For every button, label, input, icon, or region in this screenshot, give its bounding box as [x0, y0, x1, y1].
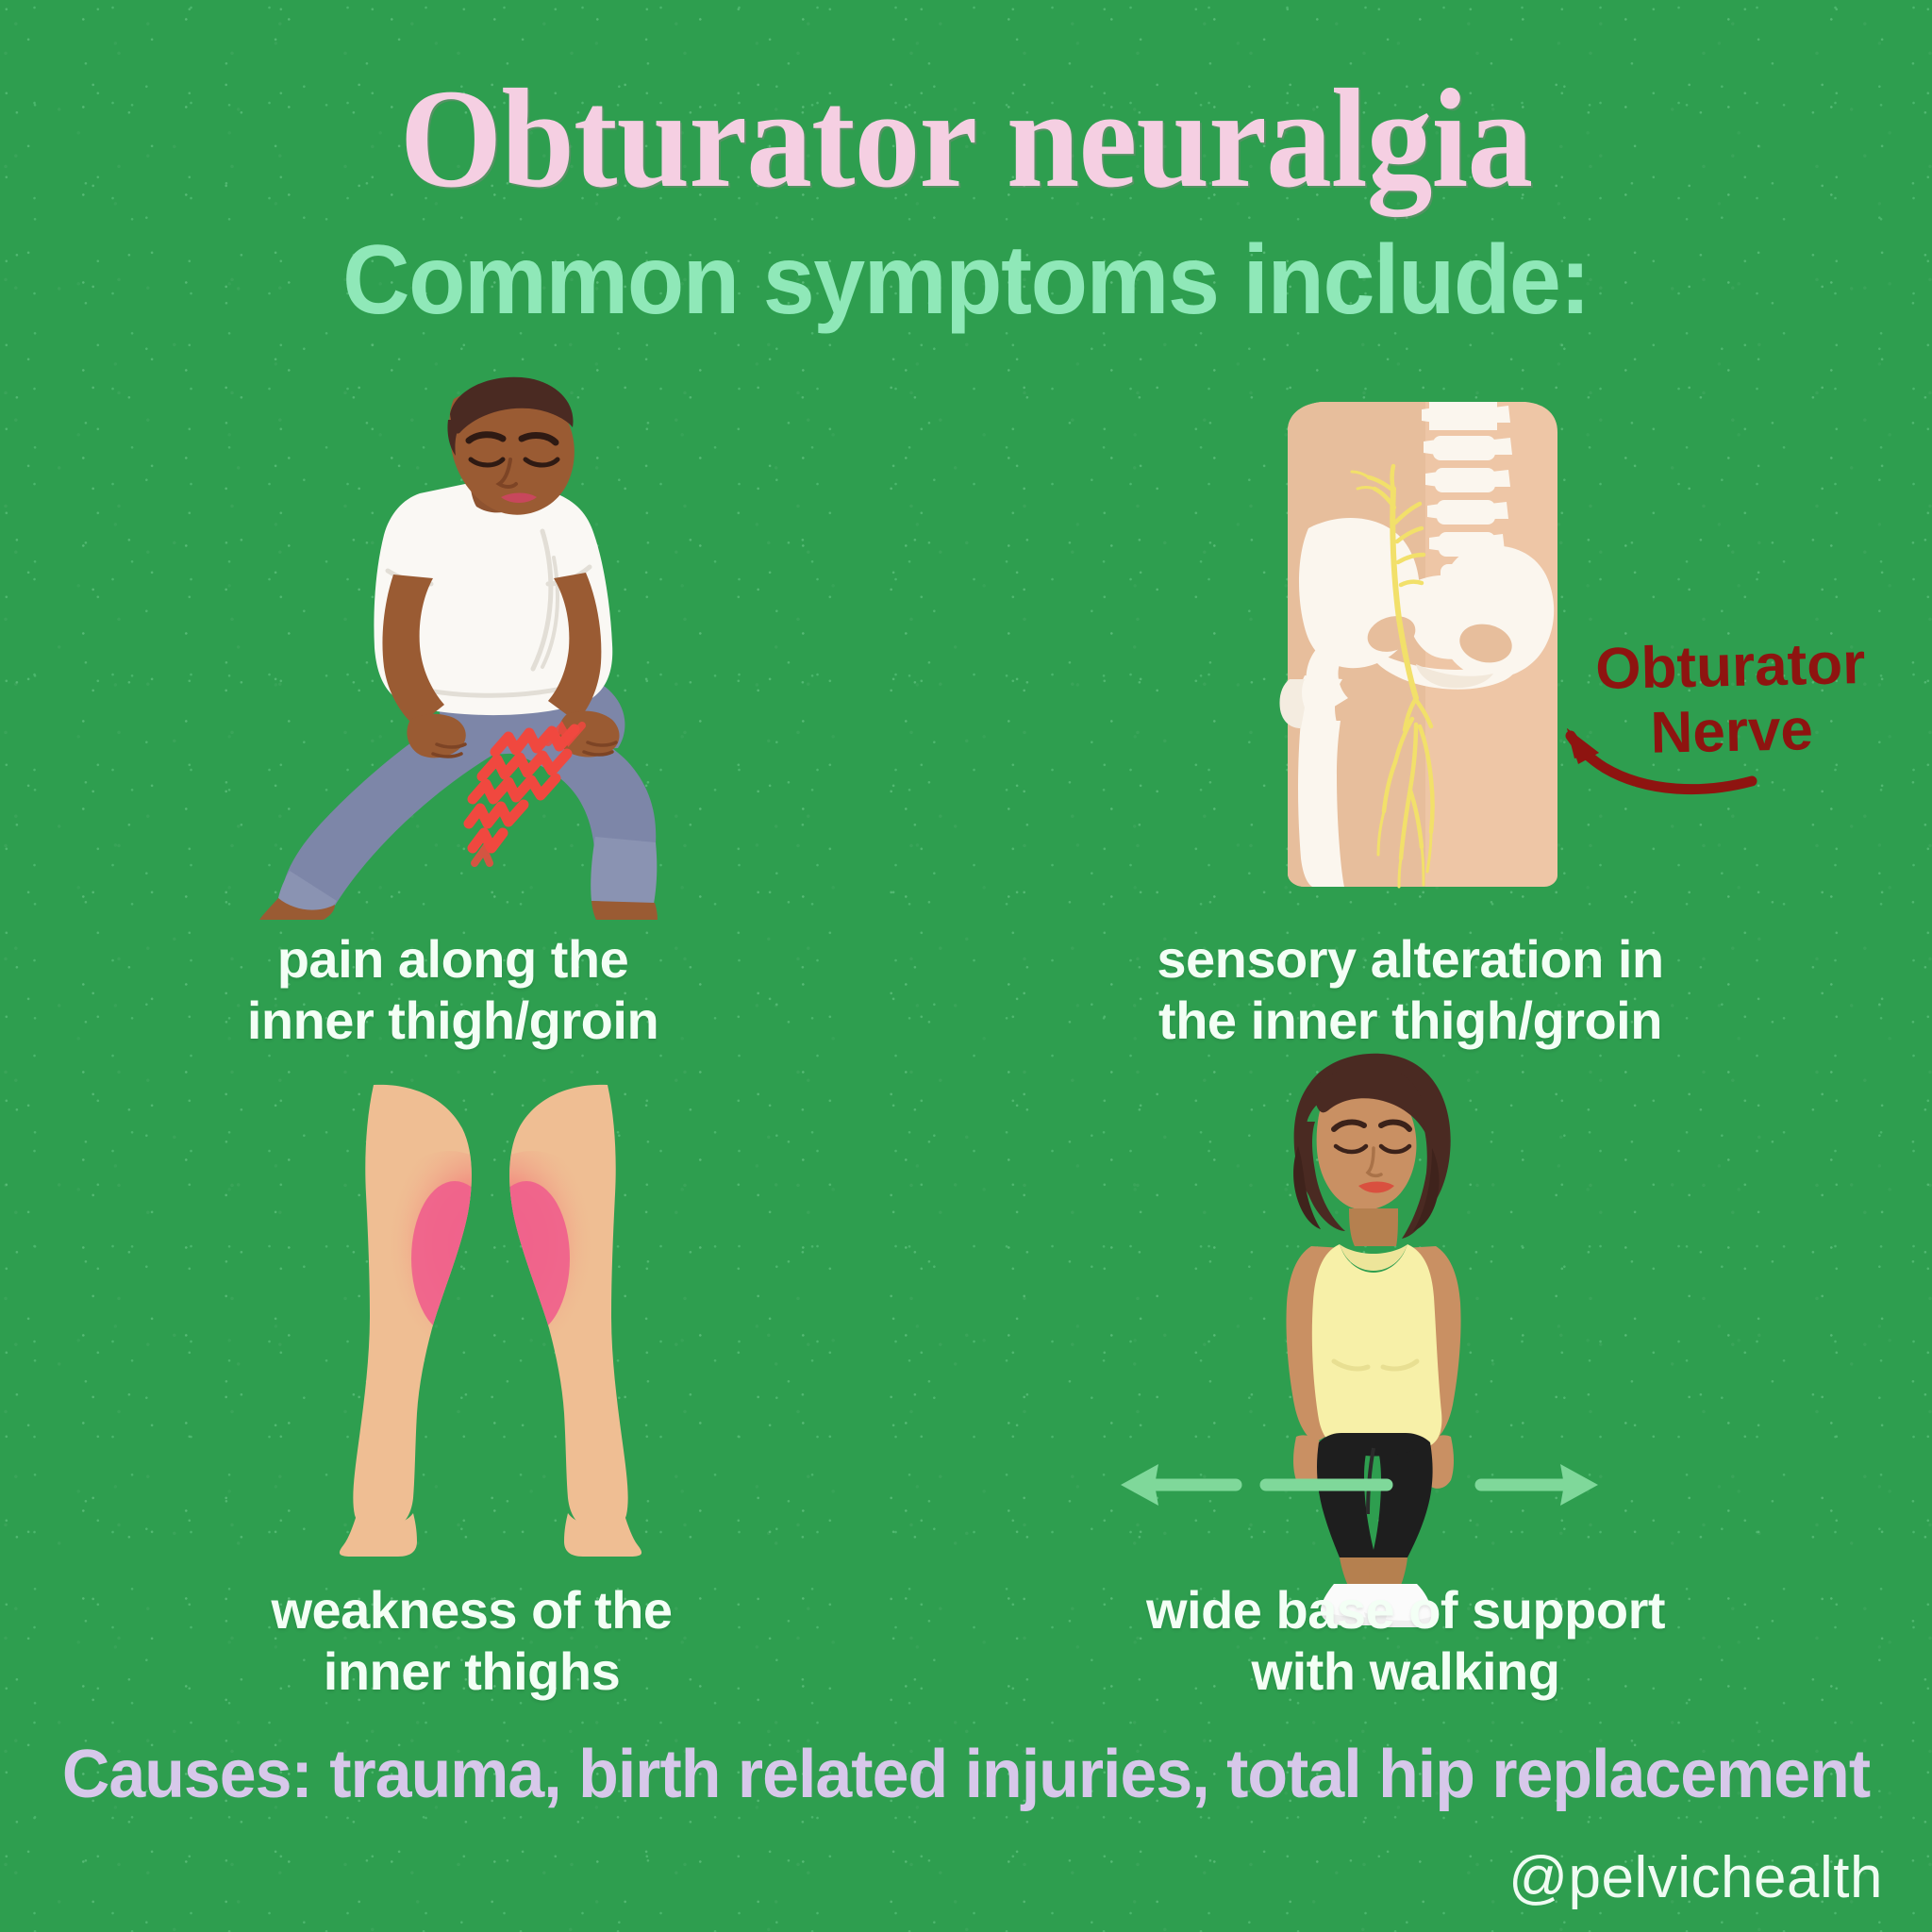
caption-pain-line1: pain along the [277, 929, 629, 989]
causes-text: Causes: trauma, birth related injuries, … [29, 1740, 1904, 1808]
caption-sensory: sensory alteration in the inner thigh/gr… [1038, 929, 1783, 1052]
nerve-label-line2: Nerve [1650, 698, 1814, 767]
page-subtitle: Common symptoms include: [48, 231, 1884, 329]
caption-wide-base-line2: with walking [1252, 1641, 1560, 1701]
double-headed-arrow-icon [1104, 1443, 1613, 1519]
infographic-poster: Obturator neuralgia Common symptoms incl… [0, 0, 1932, 1932]
caption-weakness-line1: weakness of the [271, 1580, 672, 1640]
caption-wide-base: wide base of support with walking [1028, 1580, 1783, 1703]
two-legs-inner-thigh-highlight-illustration [311, 1057, 670, 1557]
caption-weakness: weakness of the inner thighs [142, 1580, 802, 1703]
seated-man-groin-pain-illustration [222, 373, 712, 920]
caption-sensory-line1: sensory alteration in [1157, 929, 1663, 989]
caption-sensory-line2: the inner thigh/groin [1158, 991, 1662, 1050]
obturator-nerve-annotation: Obturator Nerve [1532, 630, 1931, 770]
nerve-label-line1: Obturator [1595, 631, 1866, 702]
caption-pain-line2: inner thigh/groin [247, 991, 658, 1050]
social-handle: @pelvichealth [1508, 1844, 1883, 1911]
caption-wide-base-line1: wide base of support [1146, 1580, 1665, 1640]
page-title: Obturator neuralgia [68, 68, 1865, 209]
caption-weakness-line2: inner thighs [324, 1641, 620, 1701]
caption-pain: pain along the inner thigh/groin [104, 929, 802, 1052]
